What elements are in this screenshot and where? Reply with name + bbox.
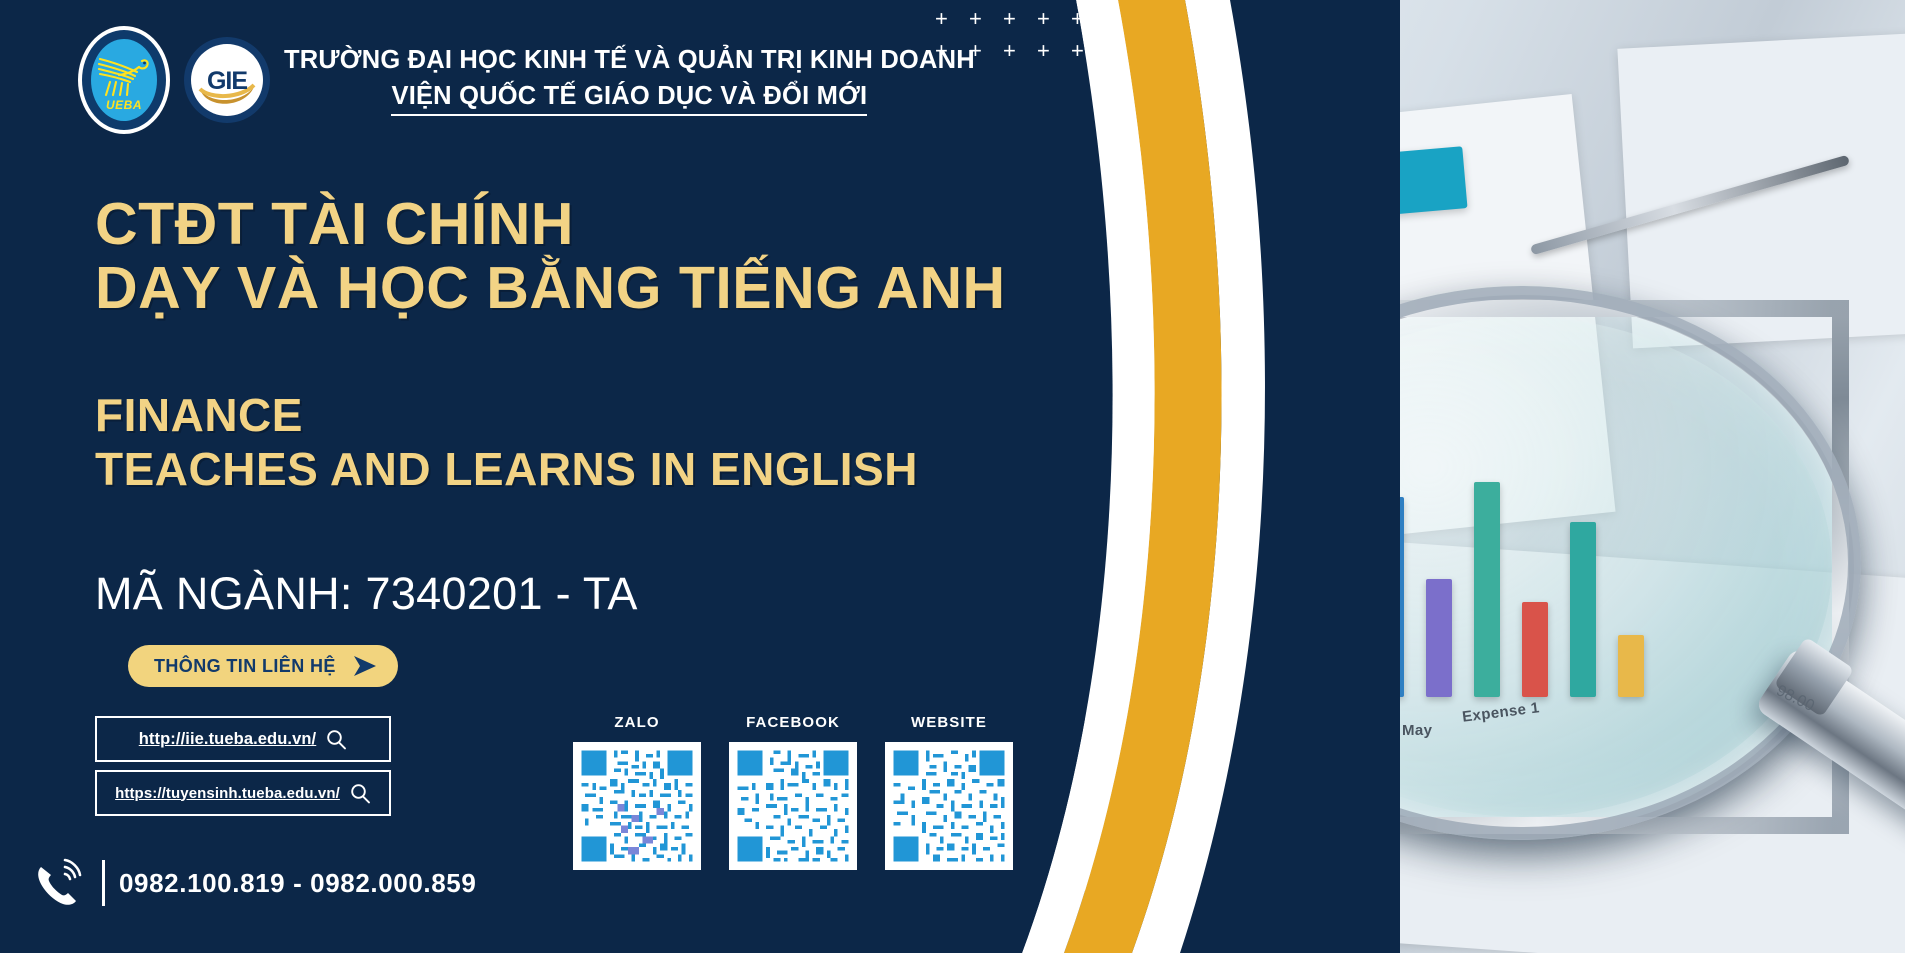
qr-cell-facebook: FACEBOOK — [729, 714, 857, 870]
program-title-vietnamese: CTĐT TÀI CHÍNH DẠY VÀ HỌC BẰNG TIẾNG ANH — [95, 193, 1006, 320]
program-title-vn-line1: CTĐT TÀI CHÍNH — [95, 193, 1006, 257]
seal-acronym: UEBA — [78, 98, 170, 112]
qr-label-zalo: ZALO — [614, 714, 659, 731]
teal-highlight-block — [1372, 146, 1467, 216]
phoenix-bird-icon — [96, 52, 152, 98]
contact-info-button[interactable]: THÔNG TIN LIÊN HỆ — [128, 645, 398, 687]
institute-name: VIỆN QUỐC TẾ GIÁO DỤC VÀ ĐỔI MỚI — [391, 80, 867, 116]
program-title-en-line2: TEACHES AND LEARNS IN ENGLISH — [95, 442, 918, 496]
qr-code-group: ZALO — [573, 714, 1013, 870]
qr-label-facebook: FACEBOOK — [746, 714, 840, 731]
plus-icon: + — [1071, 8, 1084, 30]
search-icon — [326, 729, 347, 750]
plus-icon: + — [1003, 8, 1016, 30]
admissions-banner: May Expense 1 MAY 98.00 + + + + + + + + … — [0, 0, 1905, 953]
qr-cell-zalo: ZALO — [573, 714, 701, 870]
phone-contact: 0982.100.819 - 0982.000.859 — [32, 856, 476, 910]
program-title-vn-line2: DẠY VÀ HỌC BẰNG TIẾNG ANH — [95, 257, 1006, 321]
qr-label-website: WEBSITE — [911, 714, 987, 731]
plus-icon: + — [1003, 40, 1016, 62]
phone-numbers: 0982.100.819 - 0982.000.859 — [119, 868, 476, 899]
gie-letters: GIE — [184, 67, 270, 96]
plus-icon: + — [1105, 8, 1118, 30]
plus-icon: + — [1071, 40, 1084, 62]
program-title-en-line1: FINANCE — [95, 388, 918, 442]
major-code: MÃ NGÀNH: 7340201 - TA — [95, 568, 638, 620]
ueba-seal-logo: UEBA — [78, 26, 170, 134]
qr-code-website[interactable] — [885, 742, 1013, 870]
plus-icon: + — [1037, 40, 1050, 62]
plus-icon: + — [1037, 8, 1050, 30]
magnifier-rim — [1181, 286, 1861, 840]
plus-icon: + — [1105, 40, 1118, 62]
banner-header: UEBA GIE TRƯỜNG ĐẠI HỌC KINH TẾ VÀ QUẢN … — [78, 26, 975, 134]
paper-sheet — [1617, 32, 1905, 349]
phone-ringing-icon — [32, 856, 88, 910]
qr-code-zalo[interactable] — [573, 742, 701, 870]
search-icon — [350, 783, 371, 804]
divider — [102, 860, 105, 906]
university-name: TRƯỜNG ĐẠI HỌC KINH TẾ VÀ QUẢN TRỊ KINH … — [284, 44, 975, 77]
website-link-box-tuyensinh[interactable]: https://tuyensinh.tueba.edu.vn/ — [95, 770, 391, 816]
program-title-english: FINANCE TEACHES AND LEARNS IN ENGLISH — [95, 388, 918, 497]
arrow-right-icon — [352, 655, 378, 677]
qr-code-facebook[interactable] — [729, 742, 857, 870]
financial-chart-photo: May Expense 1 MAY 98.00 — [1085, 0, 1905, 953]
gie-circular-logo: GIE — [184, 37, 270, 123]
qr-cell-website: WEBSITE — [885, 714, 1013, 870]
website-url-tuyensinh: https://tuyensinh.tueba.edu.vn/ — [115, 785, 340, 802]
website-url-iie: http://iie.tueba.edu.vn/ — [139, 730, 317, 749]
website-link-box-iie[interactable]: http://iie.tueba.edu.vn/ — [95, 716, 391, 762]
contact-info-label: THÔNG TIN LIÊN HỆ — [154, 656, 336, 677]
